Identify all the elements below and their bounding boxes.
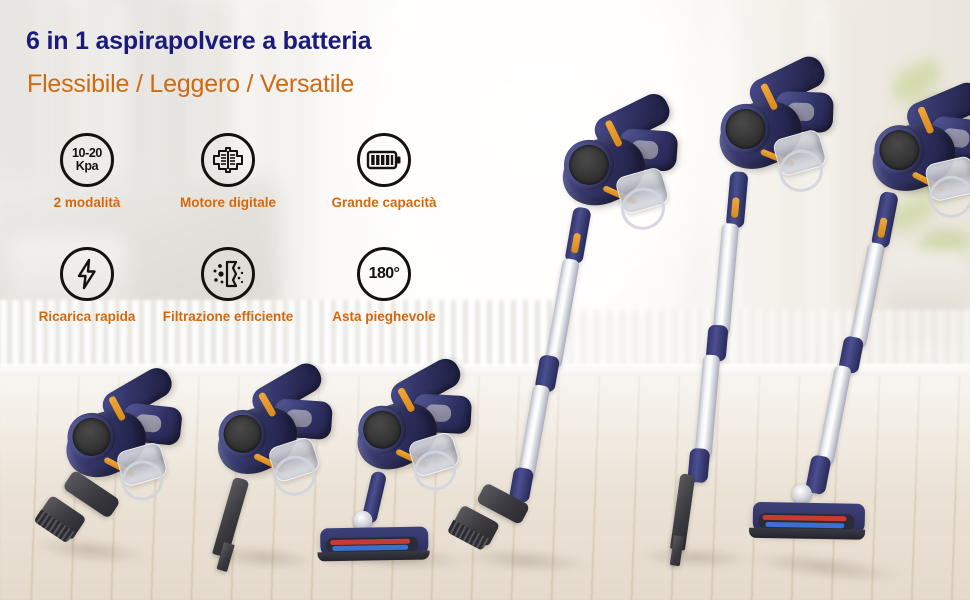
feature-list: 10-20 Kpa 2 modalità xyxy=(22,133,477,324)
feature-filtrazione-efficiente: Filtrazione efficiente xyxy=(152,247,304,324)
feature-label: 2 modalità xyxy=(54,195,121,210)
feature-row-1: 10-20 Kpa 2 modalità xyxy=(22,133,477,210)
feature-row-2: Ricarica rapida xyxy=(22,247,477,324)
page-subtitle: Flessibile / Leggero / Versatile xyxy=(27,70,354,99)
feature-2-modalita: 10-20 Kpa 2 modalità xyxy=(22,133,152,210)
feature-label: Motore digitale xyxy=(180,195,276,210)
feature-label: Grande capacità xyxy=(331,195,436,210)
feature-label: Filtrazione efficiente xyxy=(163,309,294,324)
angle-180-icon: 180° xyxy=(357,247,411,301)
page-title: 6 in 1 aspirapolvere a batteria xyxy=(26,27,371,56)
filter-particles-icon xyxy=(201,247,255,301)
feature-label: Asta pieghevole xyxy=(332,309,436,324)
feature-ricarica-rapida: Ricarica rapida xyxy=(22,247,152,324)
angle-value: 180° xyxy=(369,265,400,283)
product-handheld-with-brush-nozzle xyxy=(34,365,204,580)
battery-icon xyxy=(357,133,411,187)
feature-grande-capacita: Grande capacità xyxy=(304,133,464,210)
product-banner: 6 in 1 aspirapolvere a batteria Flessibi… xyxy=(0,0,970,600)
digital-motor-icon xyxy=(201,133,255,187)
lightning-bolt-icon xyxy=(60,247,114,301)
feature-asta-pieghevole: 180° Asta pieghevole xyxy=(304,247,464,324)
feature-label: Ricarica rapida xyxy=(39,309,136,324)
feature-motore-digitale: Motore digitale xyxy=(152,133,304,210)
suction-power-icon: 10-20 Kpa xyxy=(60,133,114,187)
suction-unit-label: Kpa xyxy=(72,160,102,173)
